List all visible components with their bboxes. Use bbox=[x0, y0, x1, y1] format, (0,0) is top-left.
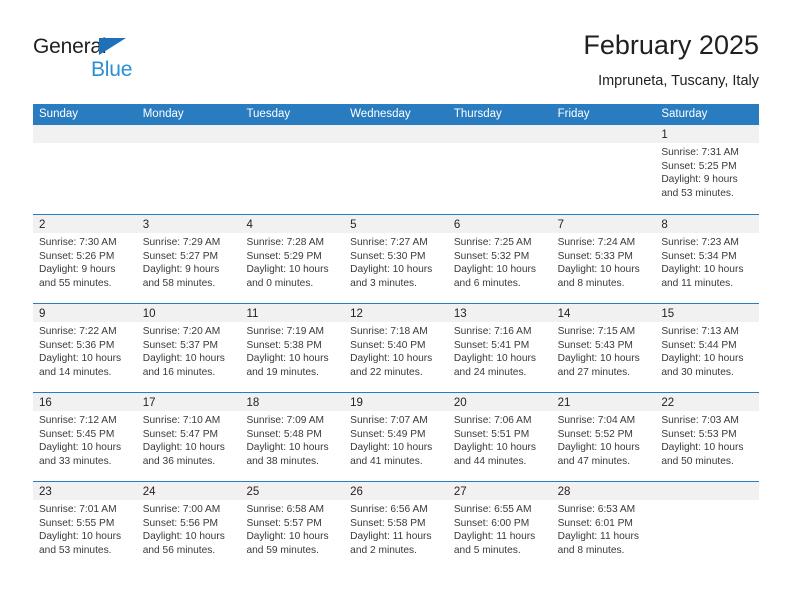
day-info-line: and 2 minutes. bbox=[350, 544, 443, 558]
weekday-header-tuesday: Tuesday bbox=[240, 104, 344, 125]
logo-text-blue: Blue bbox=[91, 59, 132, 80]
day-number: 1 bbox=[661, 129, 667, 141]
calendar-grid: SundayMondayTuesdayWednesdayThursdayFrid… bbox=[33, 104, 759, 570]
day-info-line: Sunset: 5:29 PM bbox=[246, 250, 339, 264]
day-info-line: Sunset: 6:00 PM bbox=[454, 517, 547, 531]
day-info-line: and 16 minutes. bbox=[143, 366, 236, 380]
day-info-line: Sunrise: 6:58 AM bbox=[246, 503, 339, 517]
day-number-band bbox=[448, 125, 552, 143]
calendar-day-cell-5[interactable]: 5Sunrise: 7:27 AMSunset: 5:30 PMDaylight… bbox=[344, 215, 448, 303]
day-sun-info: Sunrise: 6:55 AMSunset: 6:00 PMDaylight:… bbox=[448, 500, 552, 557]
day-info-line: Sunrise: 7:25 AM bbox=[454, 236, 547, 250]
day-number: 15 bbox=[661, 308, 674, 320]
day-number-band: 9 bbox=[33, 304, 137, 322]
day-info-line: Sunset: 5:45 PM bbox=[39, 428, 132, 442]
day-sun-info: Sunrise: 7:23 AMSunset: 5:34 PMDaylight:… bbox=[655, 233, 759, 290]
calendar-day-cell-27[interactable]: 27Sunrise: 6:55 AMSunset: 6:00 PMDayligh… bbox=[448, 482, 552, 570]
day-info-line: Sunset: 5:40 PM bbox=[350, 339, 443, 353]
day-info-line: and 59 minutes. bbox=[246, 544, 339, 558]
day-number: 27 bbox=[454, 486, 467, 498]
day-info-line: Sunset: 5:37 PM bbox=[143, 339, 236, 353]
day-number-band: 22 bbox=[655, 393, 759, 411]
day-info-line: Sunrise: 6:55 AM bbox=[454, 503, 547, 517]
day-info-line: Sunrise: 7:09 AM bbox=[246, 414, 339, 428]
day-info-line: Daylight: 10 hours bbox=[558, 441, 651, 455]
day-sun-info: Sunrise: 7:18 AMSunset: 5:40 PMDaylight:… bbox=[344, 322, 448, 379]
calendar-day-cell-15[interactable]: 15Sunrise: 7:13 AMSunset: 5:44 PMDayligh… bbox=[655, 304, 759, 392]
day-info-line: Daylight: 10 hours bbox=[39, 441, 132, 455]
page-subtitle-location: Impruneta, Tuscany, Italy bbox=[598, 72, 759, 90]
day-info-line: Daylight: 10 hours bbox=[661, 352, 754, 366]
calendar-day-cell-7[interactable]: 7Sunrise: 7:24 AMSunset: 5:33 PMDaylight… bbox=[552, 215, 656, 303]
day-info-line: and 50 minutes. bbox=[661, 455, 754, 469]
day-number: 7 bbox=[558, 219, 564, 231]
day-sun-info: Sunrise: 7:28 AMSunset: 5:29 PMDaylight:… bbox=[240, 233, 344, 290]
calendar-day-cell-24[interactable]: 24Sunrise: 7:00 AMSunset: 5:56 PMDayligh… bbox=[137, 482, 241, 570]
day-number: 4 bbox=[246, 219, 252, 231]
day-sun-info: Sunrise: 7:31 AMSunset: 5:25 PMDaylight:… bbox=[655, 143, 759, 200]
calendar-day-cell-17[interactable]: 17Sunrise: 7:10 AMSunset: 5:47 PMDayligh… bbox=[137, 393, 241, 481]
day-info-line: Daylight: 10 hours bbox=[143, 441, 236, 455]
weekday-header-wednesday: Wednesday bbox=[344, 104, 448, 125]
day-info-line: Sunset: 5:36 PM bbox=[39, 339, 132, 353]
weekday-header-thursday: Thursday bbox=[448, 104, 552, 125]
day-sun-info: Sunrise: 7:15 AMSunset: 5:43 PMDaylight:… bbox=[552, 322, 656, 379]
calendar-day-cell-2[interactable]: 2Sunrise: 7:30 AMSunset: 5:26 PMDaylight… bbox=[33, 215, 137, 303]
day-number: 10 bbox=[143, 308, 156, 320]
day-sun-info: Sunrise: 7:06 AMSunset: 5:51 PMDaylight:… bbox=[448, 411, 552, 468]
calendar-day-cell-3[interactable]: 3Sunrise: 7:29 AMSunset: 5:27 PMDaylight… bbox=[137, 215, 241, 303]
day-info-line: Sunrise: 7:07 AM bbox=[350, 414, 443, 428]
day-number: 16 bbox=[39, 397, 52, 409]
weekday-header-sunday: Sunday bbox=[33, 104, 137, 125]
day-info-line: and 44 minutes. bbox=[454, 455, 547, 469]
calendar-day-cell-14[interactable]: 14Sunrise: 7:15 AMSunset: 5:43 PMDayligh… bbox=[552, 304, 656, 392]
day-info-line: and 8 minutes. bbox=[558, 277, 651, 291]
calendar-day-cell-empty bbox=[448, 125, 552, 214]
day-info-line: Sunrise: 7:28 AM bbox=[246, 236, 339, 250]
day-number-band: 14 bbox=[552, 304, 656, 322]
day-number-band: 1 bbox=[655, 125, 759, 143]
day-info-line: and 0 minutes. bbox=[246, 277, 339, 291]
day-sun-info: Sunrise: 7:13 AMSunset: 5:44 PMDaylight:… bbox=[655, 322, 759, 379]
day-number-band: 18 bbox=[240, 393, 344, 411]
calendar-day-cell-19[interactable]: 19Sunrise: 7:07 AMSunset: 5:49 PMDayligh… bbox=[344, 393, 448, 481]
day-sun-info: Sunrise: 7:16 AMSunset: 5:41 PMDaylight:… bbox=[448, 322, 552, 379]
day-info-line: Sunrise: 7:18 AM bbox=[350, 325, 443, 339]
day-info-line: Daylight: 10 hours bbox=[558, 263, 651, 277]
day-number-band bbox=[655, 482, 759, 500]
day-number: 9 bbox=[39, 308, 45, 320]
day-info-line: Sunrise: 7:22 AM bbox=[39, 325, 132, 339]
day-info-line: and 30 minutes. bbox=[661, 366, 754, 380]
day-number: 19 bbox=[350, 397, 363, 409]
day-number-band bbox=[137, 125, 241, 143]
day-sun-info: Sunrise: 7:27 AMSunset: 5:30 PMDaylight:… bbox=[344, 233, 448, 290]
calendar-day-cell-6[interactable]: 6Sunrise: 7:25 AMSunset: 5:32 PMDaylight… bbox=[448, 215, 552, 303]
day-number: 13 bbox=[454, 308, 467, 320]
day-number-band: 11 bbox=[240, 304, 344, 322]
day-info-line: Sunrise: 7:29 AM bbox=[143, 236, 236, 250]
day-number-band: 12 bbox=[344, 304, 448, 322]
day-info-line: Sunset: 5:43 PM bbox=[558, 339, 651, 353]
calendar-day-cell-empty bbox=[33, 125, 137, 214]
day-info-line: Sunset: 5:57 PM bbox=[246, 517, 339, 531]
day-info-line: Sunset: 5:53 PM bbox=[661, 428, 754, 442]
day-sun-info: Sunrise: 7:10 AMSunset: 5:47 PMDaylight:… bbox=[137, 411, 241, 468]
day-number-band: 27 bbox=[448, 482, 552, 500]
day-sun-info: Sunrise: 7:25 AMSunset: 5:32 PMDaylight:… bbox=[448, 233, 552, 290]
calendar-day-cell-empty bbox=[344, 125, 448, 214]
day-info-line: Sunrise: 7:31 AM bbox=[661, 146, 754, 160]
day-info-line: Sunrise: 7:04 AM bbox=[558, 414, 651, 428]
day-info-line: Daylight: 10 hours bbox=[350, 352, 443, 366]
day-info-line: Daylight: 10 hours bbox=[454, 263, 547, 277]
day-number: 24 bbox=[143, 486, 156, 498]
day-number: 11 bbox=[246, 308, 258, 320]
day-info-line: Daylight: 10 hours bbox=[246, 352, 339, 366]
day-info-line: and 58 minutes. bbox=[143, 277, 236, 291]
day-number-band: 20 bbox=[448, 393, 552, 411]
day-number-band bbox=[344, 125, 448, 143]
day-info-line: Daylight: 10 hours bbox=[246, 263, 339, 277]
day-info-line: Daylight: 9 hours bbox=[39, 263, 132, 277]
day-sun-info: Sunrise: 7:19 AMSunset: 5:38 PMDaylight:… bbox=[240, 322, 344, 379]
day-sun-info: Sunrise: 7:24 AMSunset: 5:33 PMDaylight:… bbox=[552, 233, 656, 290]
day-info-line: and 27 minutes. bbox=[558, 366, 651, 380]
calendar-week-row: 23Sunrise: 7:01 AMSunset: 5:55 PMDayligh… bbox=[33, 481, 759, 570]
day-info-line: Sunrise: 7:00 AM bbox=[143, 503, 236, 517]
day-info-line: Sunset: 5:48 PM bbox=[246, 428, 339, 442]
day-info-line: Daylight: 10 hours bbox=[143, 352, 236, 366]
day-sun-info: Sunrise: 7:09 AMSunset: 5:48 PMDaylight:… bbox=[240, 411, 344, 468]
day-number-band: 21 bbox=[552, 393, 656, 411]
day-info-line: Sunset: 5:55 PM bbox=[39, 517, 132, 531]
day-info-line: and 5 minutes. bbox=[454, 544, 547, 558]
day-info-line: Sunrise: 7:12 AM bbox=[39, 414, 132, 428]
calendar-day-cell-25[interactable]: 25Sunrise: 6:58 AMSunset: 5:57 PMDayligh… bbox=[240, 482, 344, 570]
day-info-line: Sunset: 5:58 PM bbox=[350, 517, 443, 531]
day-info-line: and 3 minutes. bbox=[350, 277, 443, 291]
day-info-line: Sunset: 5:33 PM bbox=[558, 250, 651, 264]
day-number: 6 bbox=[454, 219, 460, 231]
day-number: 17 bbox=[143, 397, 156, 409]
day-info-line: and 11 minutes. bbox=[661, 277, 754, 291]
day-info-line: and 33 minutes. bbox=[39, 455, 132, 469]
logo-triangle-icon bbox=[99, 38, 126, 55]
day-sun-info: Sunrise: 7:04 AMSunset: 5:52 PMDaylight:… bbox=[552, 411, 656, 468]
day-info-line: Sunrise: 7:03 AM bbox=[661, 414, 754, 428]
calendar-day-cell-18[interactable]: 18Sunrise: 7:09 AMSunset: 5:48 PMDayligh… bbox=[240, 393, 344, 481]
calendar-day-cell-empty bbox=[240, 125, 344, 214]
day-info-line: and 6 minutes. bbox=[454, 277, 547, 291]
day-info-line: Sunrise: 7:27 AM bbox=[350, 236, 443, 250]
day-sun-info: Sunrise: 6:53 AMSunset: 6:01 PMDaylight:… bbox=[552, 500, 656, 557]
day-number-band: 10 bbox=[137, 304, 241, 322]
day-info-line: Daylight: 11 hours bbox=[454, 530, 547, 544]
day-number-band: 17 bbox=[137, 393, 241, 411]
day-number-band: 23 bbox=[33, 482, 137, 500]
day-info-line: Sunrise: 7:30 AM bbox=[39, 236, 132, 250]
day-info-line: Sunset: 5:44 PM bbox=[661, 339, 754, 353]
calendar-page: General Blue February 2025 Impruneta, Tu… bbox=[0, 0, 792, 612]
calendar-day-cell-8[interactable]: 8Sunrise: 7:23 AMSunset: 5:34 PMDaylight… bbox=[655, 215, 759, 303]
day-info-line: and 53 minutes. bbox=[661, 187, 754, 201]
day-info-line: Daylight: 10 hours bbox=[246, 441, 339, 455]
day-info-line: Daylight: 11 hours bbox=[350, 530, 443, 544]
day-sun-info: Sunrise: 7:20 AMSunset: 5:37 PMDaylight:… bbox=[137, 322, 241, 379]
day-sun-info: Sunrise: 7:22 AMSunset: 5:36 PMDaylight:… bbox=[33, 322, 137, 379]
calendar-day-cell-9[interactable]: 9Sunrise: 7:22 AMSunset: 5:36 PMDaylight… bbox=[33, 304, 137, 392]
page-title: February 2025 bbox=[583, 28, 759, 62]
day-info-line: Daylight: 9 hours bbox=[661, 173, 754, 187]
day-info-line: and 24 minutes. bbox=[454, 366, 547, 380]
day-number: 14 bbox=[558, 308, 571, 320]
day-number-band: 5 bbox=[344, 215, 448, 233]
day-number: 26 bbox=[350, 486, 363, 498]
calendar-week-row: 16Sunrise: 7:12 AMSunset: 5:45 PMDayligh… bbox=[33, 392, 759, 481]
day-number: 22 bbox=[661, 397, 674, 409]
day-number-band bbox=[552, 125, 656, 143]
day-number: 3 bbox=[143, 219, 149, 231]
day-info-line: and 56 minutes. bbox=[143, 544, 236, 558]
day-number-band bbox=[33, 125, 137, 143]
day-number: 5 bbox=[350, 219, 356, 231]
day-number: 21 bbox=[558, 397, 571, 409]
day-info-line: Sunrise: 7:24 AM bbox=[558, 236, 651, 250]
day-sun-info: Sunrise: 7:29 AMSunset: 5:27 PMDaylight:… bbox=[137, 233, 241, 290]
calendar-week-row: 1Sunrise: 7:31 AMSunset: 5:25 PMDaylight… bbox=[33, 125, 759, 214]
day-info-line: and 38 minutes. bbox=[246, 455, 339, 469]
day-number-band bbox=[240, 125, 344, 143]
day-number-band: 3 bbox=[137, 215, 241, 233]
calendar-day-cell-1[interactable]: 1Sunrise: 7:31 AMSunset: 5:25 PMDaylight… bbox=[655, 125, 759, 214]
calendar-day-cell-21[interactable]: 21Sunrise: 7:04 AMSunset: 5:52 PMDayligh… bbox=[552, 393, 656, 481]
day-number-band: 15 bbox=[655, 304, 759, 322]
calendar-week-row: 2Sunrise: 7:30 AMSunset: 5:26 PMDaylight… bbox=[33, 214, 759, 303]
day-info-line: Sunset: 5:30 PM bbox=[350, 250, 443, 264]
weekday-header-row: SundayMondayTuesdayWednesdayThursdayFrid… bbox=[33, 104, 759, 125]
day-number-band: 25 bbox=[240, 482, 344, 500]
day-sun-info: Sunrise: 7:12 AMSunset: 5:45 PMDaylight:… bbox=[33, 411, 137, 468]
day-info-line: Daylight: 10 hours bbox=[350, 441, 443, 455]
day-sun-info: Sunrise: 6:58 AMSunset: 5:57 PMDaylight:… bbox=[240, 500, 344, 557]
day-info-line: Daylight: 10 hours bbox=[454, 441, 547, 455]
day-info-line: Sunset: 5:52 PM bbox=[558, 428, 651, 442]
day-number-band: 16 bbox=[33, 393, 137, 411]
day-number-band: 7 bbox=[552, 215, 656, 233]
day-info-line: Sunrise: 7:23 AM bbox=[661, 236, 754, 250]
day-info-line: and 53 minutes. bbox=[39, 544, 132, 558]
calendar-day-cell-26[interactable]: 26Sunrise: 6:56 AMSunset: 5:58 PMDayligh… bbox=[344, 482, 448, 570]
day-info-line: Sunrise: 7:20 AM bbox=[143, 325, 236, 339]
day-sun-info: Sunrise: 6:56 AMSunset: 5:58 PMDaylight:… bbox=[344, 500, 448, 557]
day-info-line: Daylight: 10 hours bbox=[661, 441, 754, 455]
day-info-line: Sunset: 5:41 PM bbox=[454, 339, 547, 353]
day-info-line: Daylight: 10 hours bbox=[454, 352, 547, 366]
page-header: General Blue February 2025 Impruneta, Tu… bbox=[33, 28, 759, 98]
day-info-line: and 14 minutes. bbox=[39, 366, 132, 380]
day-number: 12 bbox=[350, 308, 363, 320]
day-info-line: Sunrise: 7:13 AM bbox=[661, 325, 754, 339]
calendar-day-cell-23[interactable]: 23Sunrise: 7:01 AMSunset: 5:55 PMDayligh… bbox=[33, 482, 137, 570]
day-info-line: Sunset: 5:26 PM bbox=[39, 250, 132, 264]
day-info-line: Sunrise: 7:01 AM bbox=[39, 503, 132, 517]
day-info-line: Sunset: 5:56 PM bbox=[143, 517, 236, 531]
day-info-line: Daylight: 10 hours bbox=[39, 530, 132, 544]
day-info-line: and 47 minutes. bbox=[558, 455, 651, 469]
calendar-day-cell-11[interactable]: 11Sunrise: 7:19 AMSunset: 5:38 PMDayligh… bbox=[240, 304, 344, 392]
day-info-line: Sunset: 5:47 PM bbox=[143, 428, 236, 442]
calendar-day-cell-22[interactable]: 22Sunrise: 7:03 AMSunset: 5:53 PMDayligh… bbox=[655, 393, 759, 481]
day-sun-info: Sunrise: 7:00 AMSunset: 5:56 PMDaylight:… bbox=[137, 500, 241, 557]
day-info-line: and 22 minutes. bbox=[350, 366, 443, 380]
calendar-week-row: 9Sunrise: 7:22 AMSunset: 5:36 PMDaylight… bbox=[33, 303, 759, 392]
day-info-line: and 8 minutes. bbox=[558, 544, 651, 558]
day-number-band: 2 bbox=[33, 215, 137, 233]
day-info-line: Sunset: 5:27 PM bbox=[143, 250, 236, 264]
day-number: 23 bbox=[39, 486, 52, 498]
general-blue-logo: General Blue bbox=[33, 36, 233, 92]
calendar-day-cell-13[interactable]: 13Sunrise: 7:16 AMSunset: 5:41 PMDayligh… bbox=[448, 304, 552, 392]
day-info-line: Sunset: 5:49 PM bbox=[350, 428, 443, 442]
day-info-line: Daylight: 10 hours bbox=[558, 352, 651, 366]
calendar-day-cell-4[interactable]: 4Sunrise: 7:28 AMSunset: 5:29 PMDaylight… bbox=[240, 215, 344, 303]
day-number-band: 13 bbox=[448, 304, 552, 322]
day-number: 2 bbox=[39, 219, 45, 231]
day-number: 25 bbox=[246, 486, 259, 498]
day-info-line: Sunrise: 7:19 AM bbox=[246, 325, 339, 339]
day-number-band: 28 bbox=[552, 482, 656, 500]
day-info-line: Sunrise: 7:10 AM bbox=[143, 414, 236, 428]
day-info-line: Sunset: 5:38 PM bbox=[246, 339, 339, 353]
day-info-line: Sunrise: 6:53 AM bbox=[558, 503, 651, 517]
day-number: 20 bbox=[454, 397, 467, 409]
day-number-band: 4 bbox=[240, 215, 344, 233]
day-info-line: Daylight: 11 hours bbox=[558, 530, 651, 544]
day-number-band: 6 bbox=[448, 215, 552, 233]
day-info-line: Daylight: 10 hours bbox=[661, 263, 754, 277]
weekday-header-saturday: Saturday bbox=[655, 104, 759, 125]
day-info-line: Sunset: 5:25 PM bbox=[661, 160, 754, 174]
calendar-day-cell-20[interactable]: 20Sunrise: 7:06 AMSunset: 5:51 PMDayligh… bbox=[448, 393, 552, 481]
calendar-day-cell-empty bbox=[552, 125, 656, 214]
calendar-weeks: 1Sunrise: 7:31 AMSunset: 5:25 PMDaylight… bbox=[33, 125, 759, 570]
calendar-day-cell-10[interactable]: 10Sunrise: 7:20 AMSunset: 5:37 PMDayligh… bbox=[137, 304, 241, 392]
day-sun-info: Sunrise: 7:30 AMSunset: 5:26 PMDaylight:… bbox=[33, 233, 137, 290]
day-info-line: and 41 minutes. bbox=[350, 455, 443, 469]
day-info-line: Daylight: 9 hours bbox=[143, 263, 236, 277]
day-info-line: and 19 minutes. bbox=[246, 366, 339, 380]
day-number-band: 24 bbox=[137, 482, 241, 500]
calendar-day-cell-12[interactable]: 12Sunrise: 7:18 AMSunset: 5:40 PMDayligh… bbox=[344, 304, 448, 392]
day-number-band: 19 bbox=[344, 393, 448, 411]
day-sun-info: Sunrise: 7:01 AMSunset: 5:55 PMDaylight:… bbox=[33, 500, 137, 557]
day-number-band: 8 bbox=[655, 215, 759, 233]
weekday-header-friday: Friday bbox=[552, 104, 656, 125]
day-info-line: Sunrise: 7:15 AM bbox=[558, 325, 651, 339]
day-info-line: Daylight: 10 hours bbox=[350, 263, 443, 277]
calendar-day-cell-16[interactable]: 16Sunrise: 7:12 AMSunset: 5:45 PMDayligh… bbox=[33, 393, 137, 481]
day-info-line: Sunrise: 6:56 AM bbox=[350, 503, 443, 517]
day-info-line: Daylight: 10 hours bbox=[39, 352, 132, 366]
day-info-line: and 55 minutes. bbox=[39, 277, 132, 291]
day-info-line: Daylight: 10 hours bbox=[246, 530, 339, 544]
day-info-line: Sunrise: 7:16 AM bbox=[454, 325, 547, 339]
day-info-line: Sunset: 5:34 PM bbox=[661, 250, 754, 264]
day-info-line: Sunrise: 7:06 AM bbox=[454, 414, 547, 428]
day-info-line: Sunset: 5:32 PM bbox=[454, 250, 547, 264]
day-number: 28 bbox=[558, 486, 571, 498]
calendar-day-cell-empty bbox=[137, 125, 241, 214]
day-number: 8 bbox=[661, 219, 667, 231]
calendar-day-cell-empty bbox=[655, 482, 759, 570]
day-info-line: Sunset: 5:51 PM bbox=[454, 428, 547, 442]
calendar-day-cell-28[interactable]: 28Sunrise: 6:53 AMSunset: 6:01 PMDayligh… bbox=[552, 482, 656, 570]
logo-text-general: General bbox=[33, 36, 106, 57]
day-info-line: Sunset: 6:01 PM bbox=[558, 517, 651, 531]
day-info-line: and 36 minutes. bbox=[143, 455, 236, 469]
day-sun-info: Sunrise: 7:07 AMSunset: 5:49 PMDaylight:… bbox=[344, 411, 448, 468]
day-sun-info: Sunrise: 7:03 AMSunset: 5:53 PMDaylight:… bbox=[655, 411, 759, 468]
day-number-band: 26 bbox=[344, 482, 448, 500]
day-number: 18 bbox=[246, 397, 259, 409]
day-info-line: Daylight: 10 hours bbox=[143, 530, 236, 544]
weekday-header-monday: Monday bbox=[137, 104, 241, 125]
